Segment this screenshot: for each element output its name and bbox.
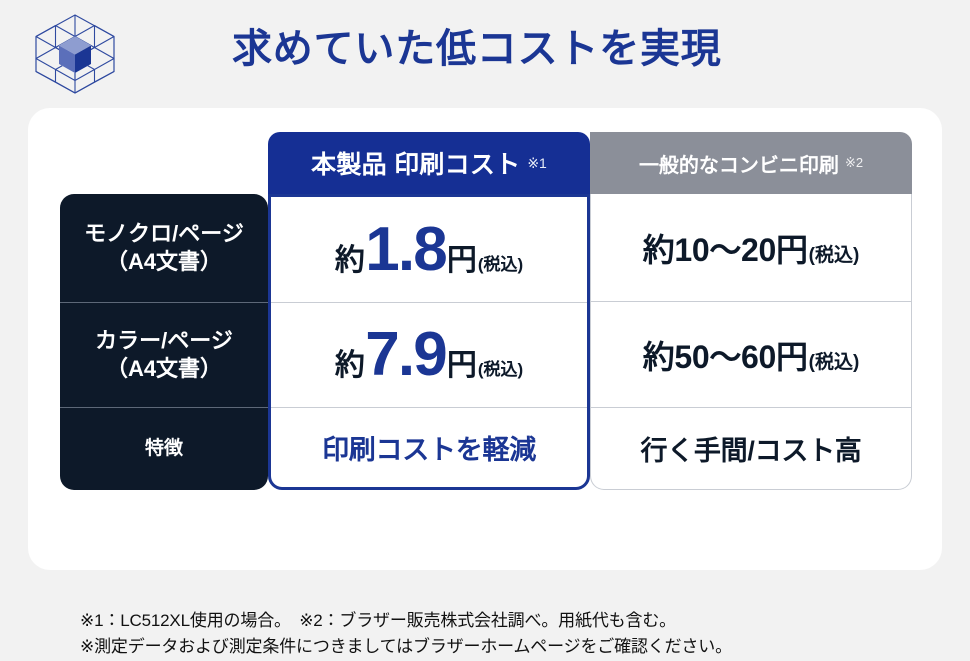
price-number: 1.8: [365, 219, 446, 281]
table-label-column: モノクロ/ページ （A4文書） カラー/ページ （A4文書） 特徴: [60, 194, 268, 490]
table-header-product-note: ※1: [527, 155, 547, 172]
table-cell-product-color: 約 7.9 円 (税込): [271, 302, 587, 407]
price-range: 約10〜20円: [643, 225, 808, 271]
price-number: 7.9: [365, 324, 446, 386]
table-cell-conventional-color: 約50〜60円 (税込): [591, 301, 911, 407]
comparison-card: 本製品 印刷コスト ※1 一般的なコンビニ印刷 ※2 モノクロ/ページ （A4文…: [28, 108, 942, 570]
table-cell-product-monochrome: 約 1.8 円 (税込): [271, 197, 587, 302]
price-tax-note: (税込): [809, 347, 860, 374]
price-tax-note: (税込): [478, 355, 523, 380]
price-unit: 円: [447, 340, 477, 384]
cost-comparison-table: 本製品 印刷コスト ※1 一般的なコンビニ印刷 ※2 モノクロ/ページ （A4文…: [60, 120, 912, 490]
table-header-conventional: 一般的なコンビニ印刷 ※2: [590, 132, 912, 194]
row-label-line1: カラー/ページ: [95, 327, 233, 355]
page-title: 求めていた低コストを実現: [232, 22, 722, 76]
table-row-label-feature: 特徴: [60, 407, 268, 490]
price-prefix: 約: [335, 235, 364, 279]
table-header-product-label: 本製品 印刷コスト: [311, 145, 520, 181]
table-cell-conventional-monochrome: 約10〜20円 (税込): [591, 194, 911, 301]
price-value: 約 1.8 円 (税込): [335, 219, 523, 281]
price-unit: 円: [447, 235, 477, 279]
feature-text: 印刷コストを軽減: [322, 428, 536, 467]
table-header-conventional-label: 一般的なコンビニ印刷: [639, 149, 839, 178]
price-value: 約50〜60円 (税込): [643, 332, 860, 378]
table-row-label-color: カラー/ページ （A4文書）: [60, 302, 268, 407]
table-cell-conventional-feature: 行く手間/コスト高: [591, 407, 911, 489]
table-header-product: 本製品 印刷コスト ※1: [268, 132, 590, 194]
feature-text: 行く手間/コスト高: [640, 429, 861, 468]
table-cell-product-feature: 印刷コストを軽減: [271, 407, 587, 487]
price-value: 約 7.9 円 (税込): [335, 324, 523, 386]
table-column-conventional: 約10〜20円 (税込) 約50〜60円 (税込) 行く手間/コスト高: [590, 194, 912, 490]
price-prefix: 約: [335, 340, 364, 384]
footnotes: ※1：LC512XL使用の場合。 ※2：ブラザー販売株式会社調べ。用紙代も含む。…: [80, 608, 960, 661]
price-range: 約50〜60円: [643, 332, 808, 378]
slide-root: 求めていた低コストを実現 本製品 印刷コスト ※1 一般的なコンビニ印刷 ※2 …: [0, 0, 970, 600]
isometric-cube-logo-icon: [24, 12, 126, 96]
table-header-conventional-note: ※2: [845, 155, 863, 171]
price-value: 約10〜20円 (税込): [643, 225, 860, 271]
row-label-line1: 特徴: [145, 437, 183, 461]
price-tax-note: (税込): [478, 250, 523, 275]
price-tax-note: (税込): [809, 240, 860, 267]
footnote-line-1: ※1：LC512XL使用の場合。 ※2：ブラザー販売株式会社調べ。用紙代も含む。: [80, 608, 960, 634]
table-column-product: 約 1.8 円 (税込) 約 7.9 円 (税込) 印刷コストを軽減: [268, 194, 590, 490]
footnote-line-2: ※測定データおよび測定条件につきましてはブラザーホームページをご確認ください。: [80, 634, 960, 660]
row-label-line2: （A4文書）: [106, 355, 222, 383]
row-label-line1: モノクロ/ページ: [84, 220, 244, 248]
slide-header: 求めていた低コストを実現: [0, 0, 970, 108]
row-label-line2: （A4文書）: [106, 248, 222, 276]
table-row-label-monochrome: モノクロ/ページ （A4文書）: [60, 194, 268, 302]
